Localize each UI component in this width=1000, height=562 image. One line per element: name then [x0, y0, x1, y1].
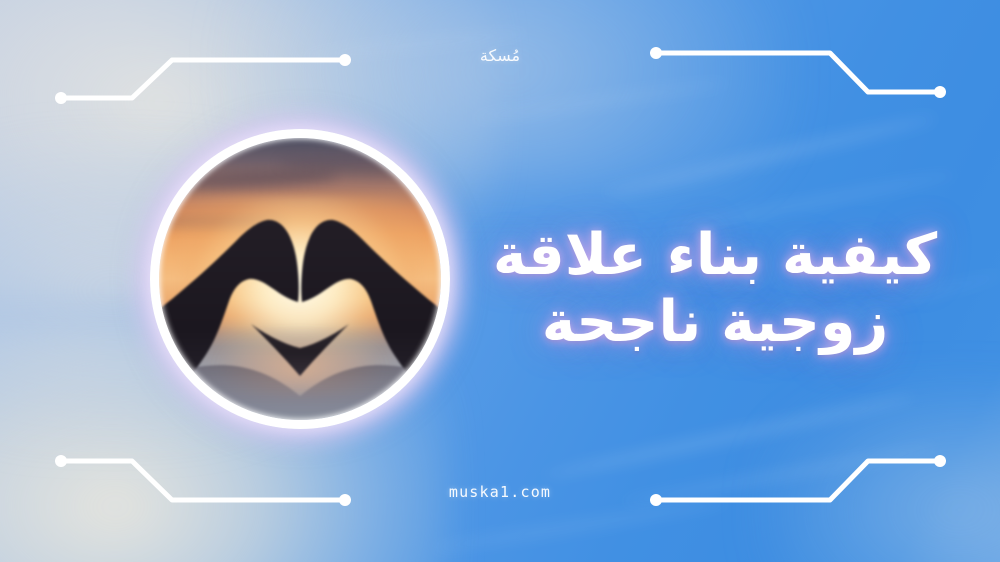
brand-label-top: مُسكة: [0, 46, 1000, 65]
site-url: muska1.com: [0, 483, 1000, 501]
corner-line-dot: [934, 86, 946, 98]
corner-line-dot: [55, 455, 67, 467]
heart-hands-silhouette-icon: [159, 138, 441, 420]
hero-photo-image: [159, 138, 441, 420]
headline: كيفية بناء علاقة زوجية ناجحة: [450, 222, 980, 355]
thumbnail-canvas: مُسكة: [0, 0, 1000, 562]
corner-line-dot: [934, 455, 946, 467]
headline-line-2: زوجية ناجحة: [450, 289, 980, 356]
corner-line-dot: [55, 92, 67, 104]
headline-line-1: كيفية بناء علاقة: [450, 222, 980, 289]
hero-photo: [150, 129, 450, 429]
